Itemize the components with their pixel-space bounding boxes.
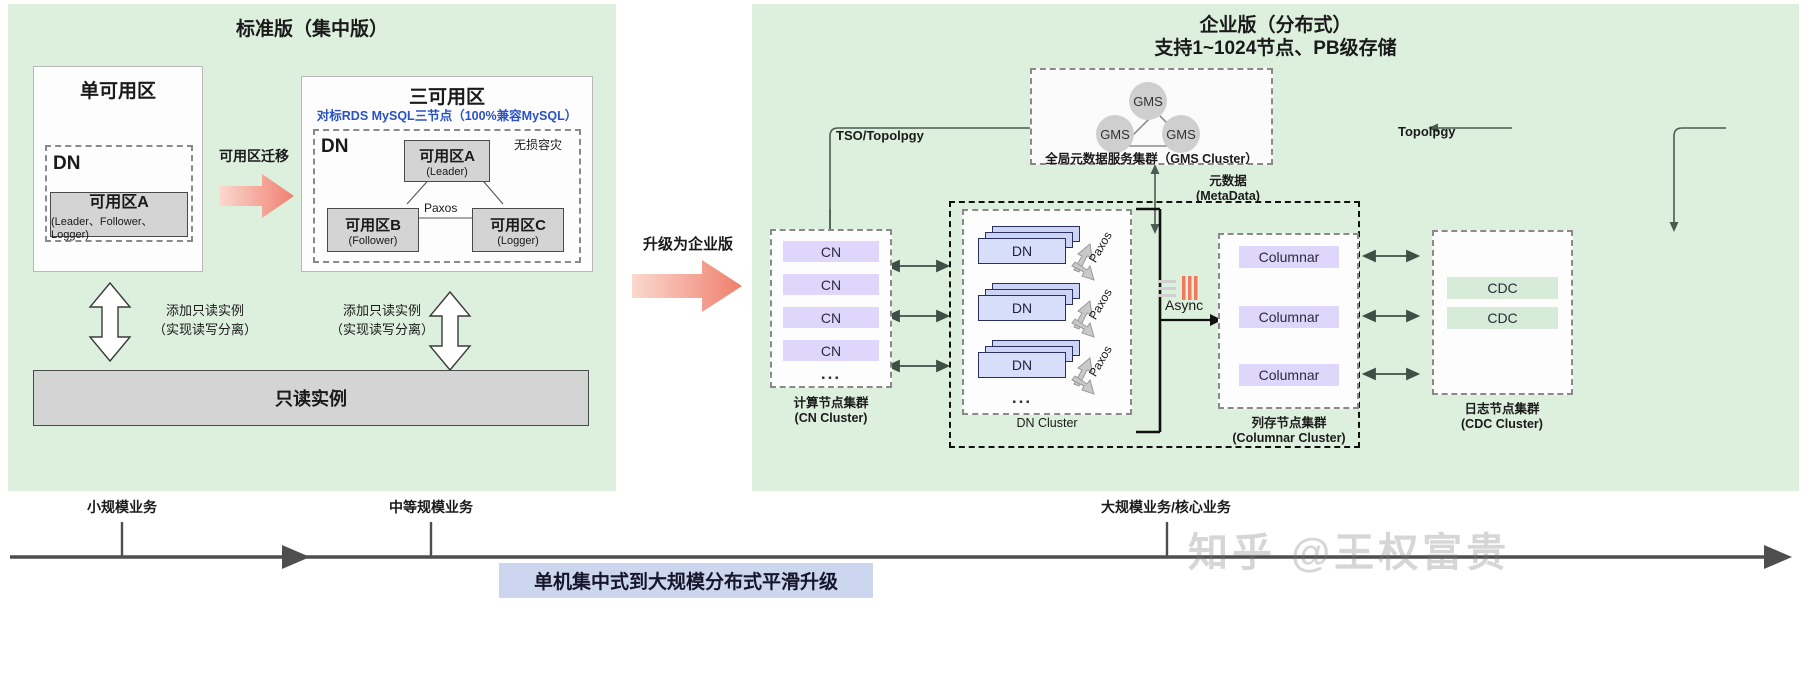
cn-node-4: CN xyxy=(783,340,879,361)
upgrade-label: 升级为企业版 xyxy=(628,233,748,254)
dn-paxos-arrows xyxy=(1068,230,1138,440)
tso-topolpgy-label: TSO/Topolpgy xyxy=(836,128,924,143)
metadata-label-line1: 元数据 xyxy=(1168,170,1288,189)
columnar-cluster-caption: 列存节点集群 (Columnar Cluster) xyxy=(1205,412,1373,445)
topolpgy-label: Topolpgy xyxy=(1398,124,1456,139)
az-migrate-label: 可用区迁移 xyxy=(214,146,294,166)
bottom-banner: 单机集中式到大规模分布式平滑升级 xyxy=(499,563,873,598)
cdc-cluster-caption-line1: 日志节点集群 xyxy=(1418,398,1586,417)
single-az-zone-a-name: 可用区A xyxy=(89,188,149,212)
three-az-zone-b-role: (Follower) xyxy=(349,235,398,247)
three-az-zone-a-name: 可用区A xyxy=(419,145,475,166)
readonly-arrow-right-icon xyxy=(425,290,475,374)
cn-node-3: CN xyxy=(783,307,879,328)
gms-node-top: GMS xyxy=(1129,82,1167,120)
readonly-label-left-line2: （实现读写分离） xyxy=(140,319,270,338)
az-migrate-arrow-icon xyxy=(218,168,298,224)
columnar-cluster-caption-line2: (Columnar Cluster) xyxy=(1205,431,1373,445)
watermark: 知乎 @王权富贵 xyxy=(1188,520,1510,578)
dn-cluster-caption: DN Cluster xyxy=(962,416,1132,430)
single-az-zone-a-roles: (Leader、Follower、Logger) xyxy=(51,213,187,241)
readonly-label-left: 添加只读实例 （实现读写分离） xyxy=(140,300,270,338)
metadata-label: 元数据 (MetaData) xyxy=(1168,170,1288,203)
dn-stack-3: DN xyxy=(978,340,1082,382)
async-label: Async xyxy=(1165,297,1203,313)
cn-cluster-caption: 计算节点集群 (CN Cluster) xyxy=(760,392,902,425)
cn-node-2: CN xyxy=(783,274,879,295)
cdc-node-2: CDC xyxy=(1447,307,1558,329)
columnar-node-2: Columnar xyxy=(1239,306,1339,328)
three-az-zone-c-name: 可用区C xyxy=(490,214,546,235)
dn-node-3: DN xyxy=(978,352,1066,378)
readonly-instance-bar: 只读实例 xyxy=(33,370,589,426)
cn-cluster-caption-line1: 计算节点集群 xyxy=(760,392,902,411)
readonly-instance-label: 只读实例 xyxy=(275,385,347,411)
readonly-arrow-left-icon xyxy=(85,281,135,365)
dn-more-ellipsis: ... xyxy=(978,388,1066,408)
dn-node-1: DN xyxy=(978,238,1066,264)
three-az-zone-c: 可用区C (Logger) xyxy=(472,208,564,252)
upgrade-arrow-icon xyxy=(630,256,746,318)
columnar-cluster-caption-line1: 列存节点集群 xyxy=(1205,412,1373,431)
standard-edition-title: 标准版（集中版） xyxy=(8,14,616,41)
three-az-zone-a: 可用区A (Leader) xyxy=(404,140,490,182)
diagram-root: 标准版（集中版） 单可用区 DN 可用区A (Leader、Follower、L… xyxy=(0,0,1807,699)
columnar-node-1: Columnar xyxy=(1239,246,1339,268)
dn-node-2: DN xyxy=(978,295,1066,321)
cdc-cluster-caption: 日志节点集群 (CDC Cluster) xyxy=(1418,398,1586,431)
gms-cluster-caption: 全局元数据服务集群（GMS Cluster） xyxy=(1030,148,1273,167)
dn-stack-1: DN xyxy=(978,226,1082,268)
cdc-node-1: CDC xyxy=(1447,277,1558,299)
three-az-zone-b: 可用区B (Follower) xyxy=(327,208,419,252)
cn-cluster-caption-line2: (CN Cluster) xyxy=(760,411,902,425)
timeline-axis xyxy=(0,500,1807,620)
single-az-dn-label: DN xyxy=(53,153,80,175)
single-az-zone-a: 可用区A (Leader、Follower、Logger) xyxy=(50,192,188,237)
readonly-label-left-line1: 添加只读实例 xyxy=(140,300,270,319)
three-az-paxos-label: Paxos xyxy=(424,201,457,215)
three-az-zone-a-role: (Leader) xyxy=(426,166,468,178)
columnar-node-3: Columnar xyxy=(1239,364,1339,386)
three-az-zone-b-name: 可用区B xyxy=(345,214,401,235)
three-az-subtitle: 对标RDS MySQL三节点（100%兼容MySQL） xyxy=(301,105,593,124)
single-az-title: 单可用区 xyxy=(33,76,203,103)
cn-node-1: CN xyxy=(783,241,879,262)
cn-more-ellipsis: ... xyxy=(783,364,879,384)
dn-stack-2: DN xyxy=(978,283,1082,325)
cdc-cluster-caption-line2: (CDC Cluster) xyxy=(1418,417,1586,431)
three-az-zone-c-role: (Logger) xyxy=(497,235,539,247)
